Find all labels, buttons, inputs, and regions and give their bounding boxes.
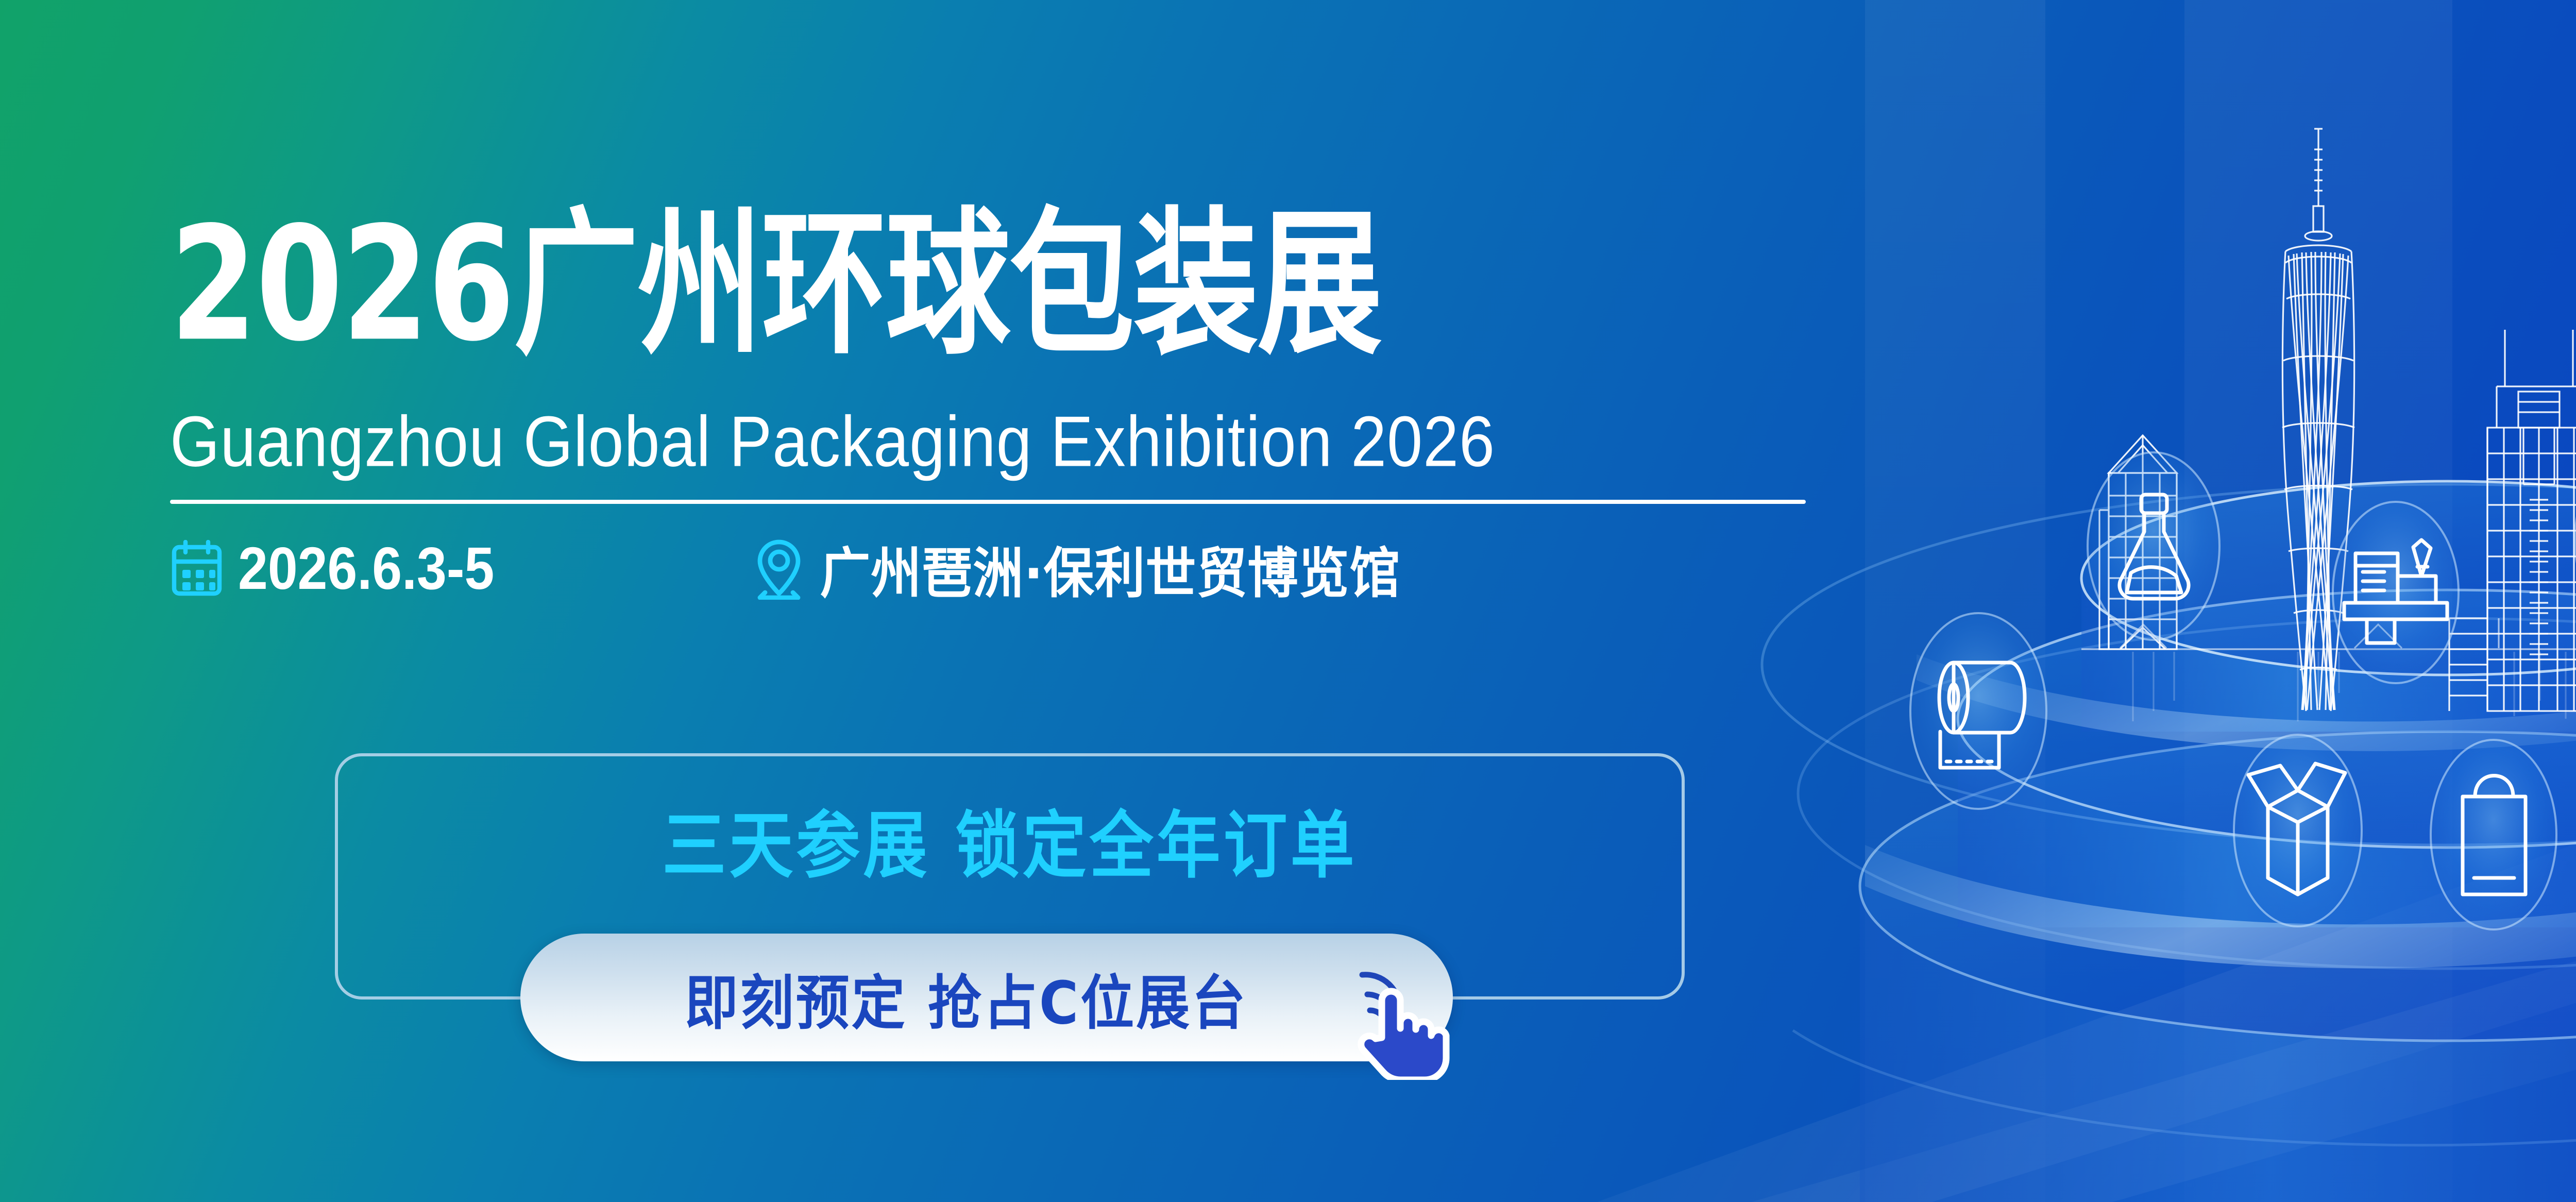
headline-block: 2026广州环球包装展 Guangzhou Global Packaging E…: [170, 206, 1870, 602]
badge-paper-roll: [1910, 613, 2046, 809]
page-title: 2026广州环球包装展: [170, 206, 1819, 363]
location-pin-icon: [752, 538, 806, 600]
event-venue-text: 广州琶洲·保利世贸博览馆: [820, 529, 1400, 608]
divider: [170, 500, 1806, 504]
click-hand-icon: [1338, 951, 1478, 1080]
badge-open-box: [2234, 735, 2362, 926]
event-meta-row: 2026.6.3-5 广州琶洲·保利世贸博览馆: [170, 536, 1870, 602]
page-subtitle-english: Guangzhou Global Packaging Exhibition 20…: [170, 406, 1870, 478]
slogan-text: 三天参展 锁定全年订单: [338, 786, 1682, 892]
book-booth-button[interactable]: 即刻预定 抢占C位展台: [520, 934, 1453, 1061]
badge-printing-machine: [2333, 502, 2459, 683]
event-venue: 广州琶洲·保利世贸博览馆: [752, 536, 1400, 602]
badge-bottle: [2088, 452, 2219, 640]
event-date: 2026.6.3-5: [170, 536, 494, 602]
exhibition-banner: 2026广州环球包装展 Guangzhou Global Packaging E…: [0, 0, 2576, 1202]
calendar-icon: [170, 540, 224, 598]
event-date-text: 2026.6.3-5: [238, 534, 494, 603]
book-booth-button-label: 即刻预定 抢占C位展台: [685, 955, 1248, 1040]
badge-shopping-bag: [2431, 740, 2556, 929]
